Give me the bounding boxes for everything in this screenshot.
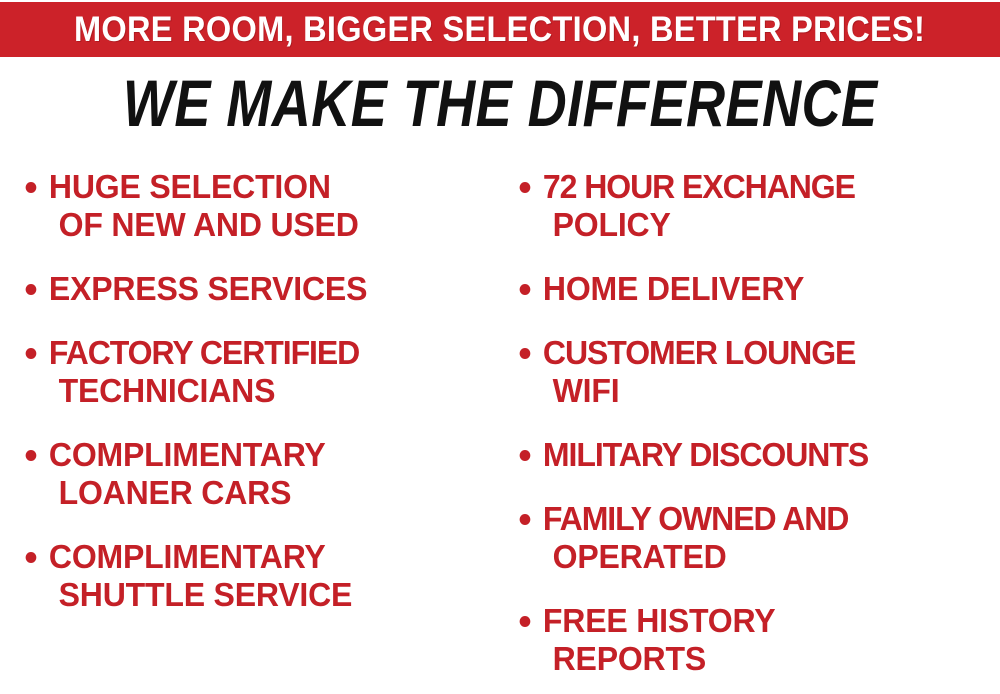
list-item-line-1: COMPLIMENTARY — [49, 538, 491, 576]
list-item: FAMILY OWNED AND OPERATED — [508, 500, 985, 576]
list-item: FACTORY CERTIFIED TECHNICIANS — [14, 334, 491, 410]
bullet-dot-icon — [26, 348, 37, 359]
list-item-line-1: MILITARY DISCOUNTS — [543, 436, 985, 474]
bullet-dot-icon — [520, 284, 531, 295]
banner-headline-text: MORE ROOM, BIGGER SELECTION, BETTER PRIC… — [74, 12, 925, 47]
list-item: FREE HISTORY REPORTS — [508, 602, 985, 678]
list-item-line-2: SHUTTLE SERVICE — [49, 576, 491, 614]
list-item-line-1: CUSTOMER LOUNGE — [543, 334, 985, 372]
list-item-line-2: OPERATED — [543, 538, 985, 576]
list-item-line-1: EXPRESS SERVICES — [49, 270, 491, 308]
advertisement-poster: MORE ROOM, BIGGER SELECTION, BETTER PRIC… — [0, 0, 1000, 694]
list-item-line-1: FACTORY CERTIFIED — [49, 334, 491, 372]
bullet-dot-icon — [26, 450, 37, 461]
list-item: COMPLIMENTARY LOANER CARS — [14, 436, 491, 512]
list-item-line-2: REPORTS — [543, 640, 985, 678]
list-item: HUGE SELECTION OF NEW AND USED — [14, 168, 491, 244]
bullet-dot-icon — [520, 616, 531, 627]
list-item-line-1: COMPLIMENTARY — [49, 436, 491, 474]
list-item: MILITARY DISCOUNTS — [508, 436, 985, 474]
benefits-column-right: 72 HOUR EXCHANGE POLICY HOME DELIVERY CU… — [508, 158, 1000, 694]
bullet-dot-icon — [520, 450, 531, 461]
benefits-columns: HUGE SELECTION OF NEW AND USED EXPRESS S… — [0, 158, 1000, 694]
list-item-line-2: OF NEW AND USED — [49, 206, 491, 244]
headline-container: WE MAKE THE DIFFERENCE — [0, 68, 1000, 138]
list-item: 72 HOUR EXCHANGE POLICY — [508, 168, 985, 244]
bullet-dot-icon — [26, 552, 37, 563]
list-item-line-2: WIFI — [543, 372, 985, 410]
list-item-line-2: LOANER CARS — [49, 474, 491, 512]
bullet-dot-icon — [26, 284, 37, 295]
list-item-line-1: HOME DELIVERY — [543, 270, 985, 308]
bullet-dot-icon — [520, 348, 531, 359]
list-item-line-2: POLICY — [543, 206, 985, 244]
bullet-dot-icon — [520, 182, 531, 193]
list-item-line-1: 72 HOUR EXCHANGE — [543, 168, 985, 206]
bullet-dot-icon — [520, 514, 531, 525]
list-item-line-1: FAMILY OWNED AND — [543, 500, 985, 538]
bullet-dot-icon — [26, 182, 37, 193]
list-item: EXPRESS SERVICES — [14, 270, 491, 308]
page-title: WE MAKE THE DIFFERENCE — [123, 70, 878, 136]
top-banner: MORE ROOM, BIGGER SELECTION, BETTER PRIC… — [0, 2, 1000, 57]
list-item: COMPLIMENTARY SHUTTLE SERVICE — [14, 538, 491, 614]
list-item-line-2: TECHNICIANS — [49, 372, 491, 410]
list-item: CUSTOMER LOUNGE WIFI — [508, 334, 985, 410]
list-item-line-1: FREE HISTORY — [543, 602, 985, 640]
list-item-line-1: HUGE SELECTION — [49, 168, 491, 206]
benefits-column-left: HUGE SELECTION OF NEW AND USED EXPRESS S… — [14, 158, 506, 694]
list-item: HOME DELIVERY — [508, 270, 985, 308]
